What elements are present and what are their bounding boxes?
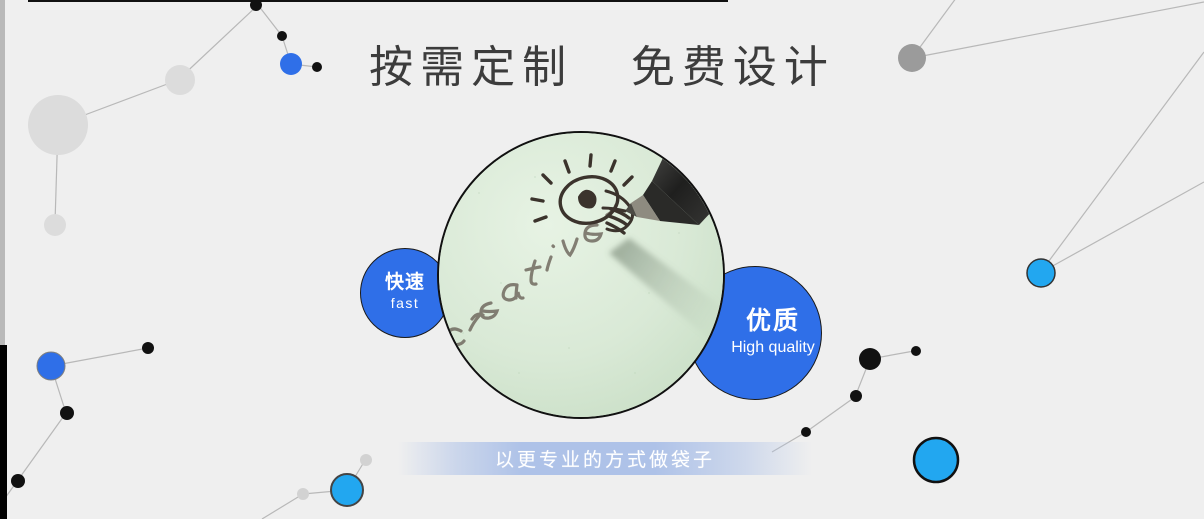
decor-node-cyan-bottomleft bbox=[331, 474, 363, 506]
decor-node-black-g bbox=[859, 348, 881, 370]
decor-node-black-f bbox=[11, 474, 25, 488]
decor-node-black-b bbox=[277, 31, 287, 41]
promo-banner: 按需定制 免费设计 快速 fast 优质 High quality bbox=[0, 0, 1204, 519]
feature-fast-en-label: fast bbox=[391, 293, 420, 314]
decor-node-blue-left bbox=[37, 352, 65, 380]
decor-node-black-h bbox=[911, 346, 921, 356]
feature-quality-en-label: High quality bbox=[731, 336, 815, 360]
decor-node-black-d bbox=[142, 342, 154, 354]
decor-node-gray-small bbox=[44, 214, 66, 236]
tagline-ribbon: 以更专业的方式做袋子 bbox=[398, 442, 812, 475]
creative-photo-image bbox=[439, 133, 723, 417]
creative-photo-circle bbox=[437, 131, 725, 419]
feature-fast-cn-label: 快速 bbox=[385, 272, 425, 294]
top-rule bbox=[28, 0, 728, 2]
feature-quality-cn-label: 优质 bbox=[746, 306, 800, 336]
decor-node-gray-bottomleft-a bbox=[297, 488, 309, 500]
creative-photo-svg bbox=[439, 133, 723, 417]
decor-node-cyan-right bbox=[1027, 259, 1055, 287]
decor-node-black-j bbox=[801, 427, 811, 437]
headline: 按需定制 免费设计 bbox=[0, 44, 1204, 92]
decor-node-gray-large bbox=[28, 95, 88, 155]
decor-node-gray-bottomleft-b bbox=[360, 454, 372, 466]
decor-node-black-i bbox=[850, 390, 862, 402]
decor-node-black-e bbox=[60, 406, 74, 420]
left-black-bar bbox=[0, 345, 7, 519]
feature-circle-fast[interactable]: 快速 fast bbox=[360, 248, 450, 338]
tagline-text: 以更专业的方式做袋子 bbox=[495, 445, 715, 472]
decor-node-cyan-bottomright bbox=[914, 438, 958, 482]
